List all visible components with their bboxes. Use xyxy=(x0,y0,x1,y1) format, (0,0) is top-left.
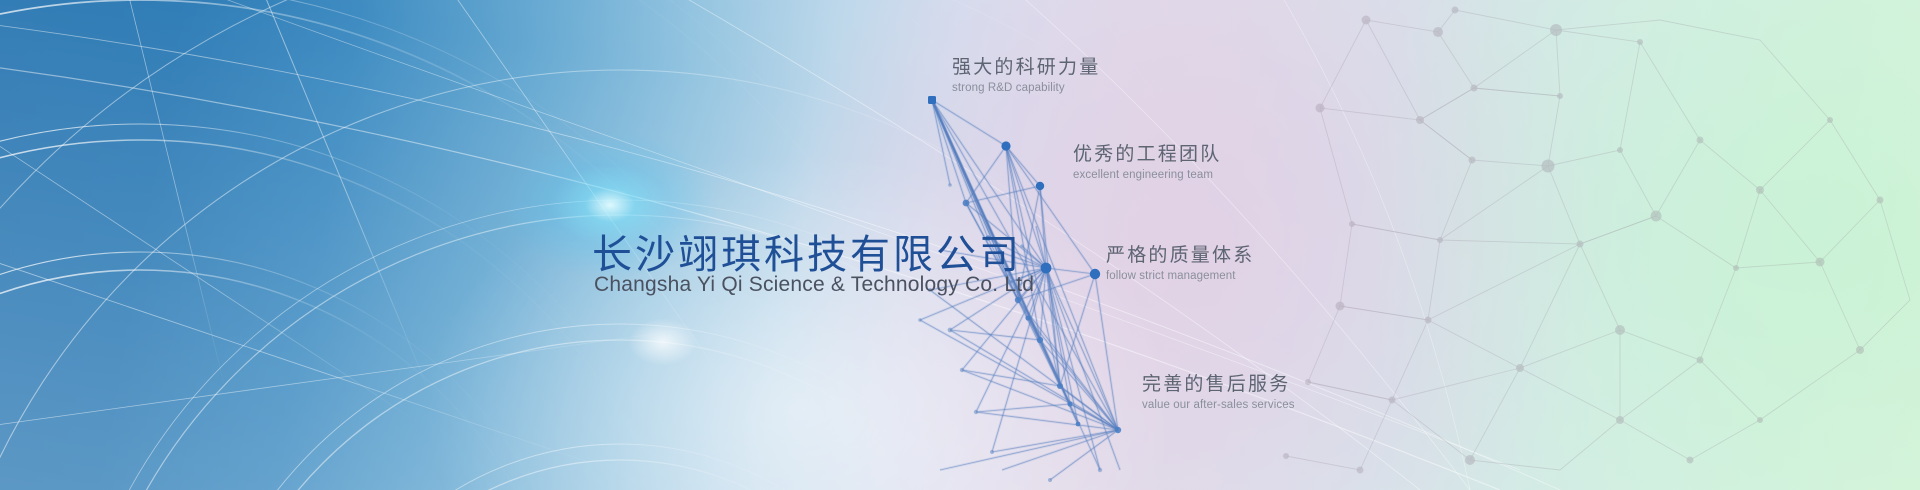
feature-item-quality-system: 严格的质量体系 follow strict management xyxy=(1106,240,1254,282)
hero-banner: 长沙翊琪科技有限公司 Changsha Yi Qi Science & Tech… xyxy=(0,0,1920,490)
feature-item-rd: 强大的科研力量 strong R&D capability xyxy=(952,52,1100,94)
feature-label-cn: 强大的科研力量 xyxy=(952,52,1100,79)
company-name-en: Changsha Yi Qi Science & Technology Co. … xyxy=(594,273,1034,297)
feature-label-en: value our after-sales services xyxy=(1142,399,1295,411)
feature-label-en: follow strict management xyxy=(1106,270,1254,282)
feature-label-cn: 优秀的工程团队 xyxy=(1073,139,1221,166)
company-name-cn: 长沙翊琪科技有限公司 xyxy=(592,222,1022,280)
feature-label-en: excellent engineering team xyxy=(1073,169,1221,181)
feature-label-en: strong R&D capability xyxy=(952,82,1100,94)
feature-item-engineering-team: 优秀的工程团队 excellent engineering team xyxy=(1073,139,1221,181)
feature-label-cn: 严格的质量体系 xyxy=(1106,240,1254,267)
feature-item-after-sales: 完善的售后服务 value our after-sales services xyxy=(1142,369,1295,411)
feature-label-cn: 完善的售后服务 xyxy=(1142,369,1295,396)
